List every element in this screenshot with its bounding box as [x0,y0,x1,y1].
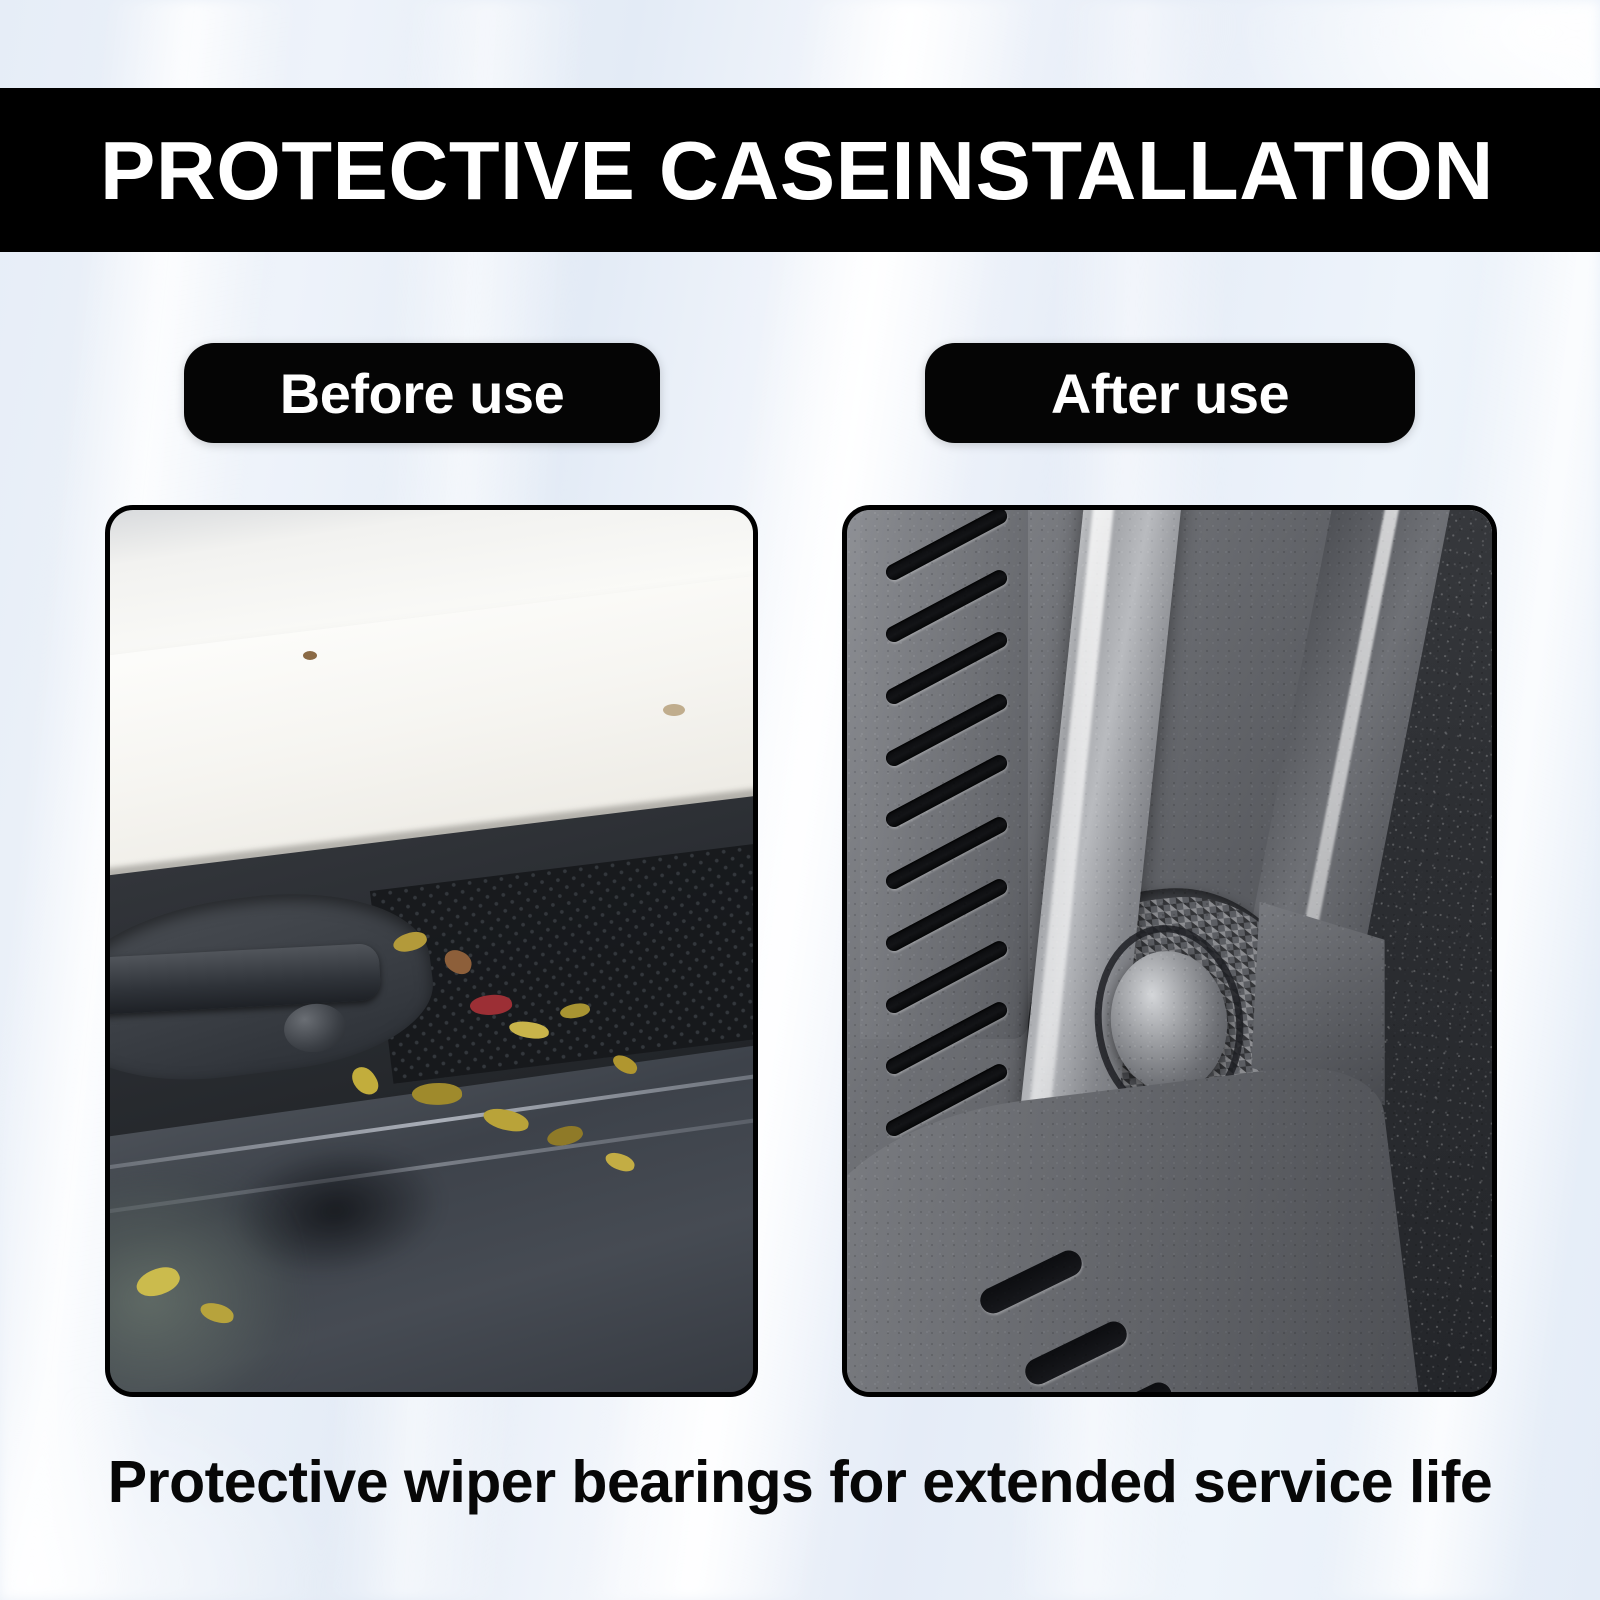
photo-debris-speck [663,704,685,716]
badge-after-use: After use [925,343,1415,443]
photo-debris-speck [303,651,317,660]
photo-frame-after-use [842,505,1497,1397]
photo-frame-before-use [105,505,758,1397]
page-title: PROTECTIVE CASEINSTALLATION [100,129,1494,212]
title-bar: PROTECTIVE CASEINSTALLATION [0,88,1600,252]
dirty-wiper-cowl-photo [110,510,753,1392]
badge-before-use-label: Before use [280,361,564,426]
badge-before-use: Before use [184,343,660,443]
photo-tree-reflection [110,1146,320,1392]
badge-after-use-label: After use [1051,361,1289,426]
photo-surface-grain [847,510,1492,1392]
installed-protective-case-photo [847,510,1492,1392]
footer-caption: Protective wiper bearings for extended s… [0,1448,1600,1516]
